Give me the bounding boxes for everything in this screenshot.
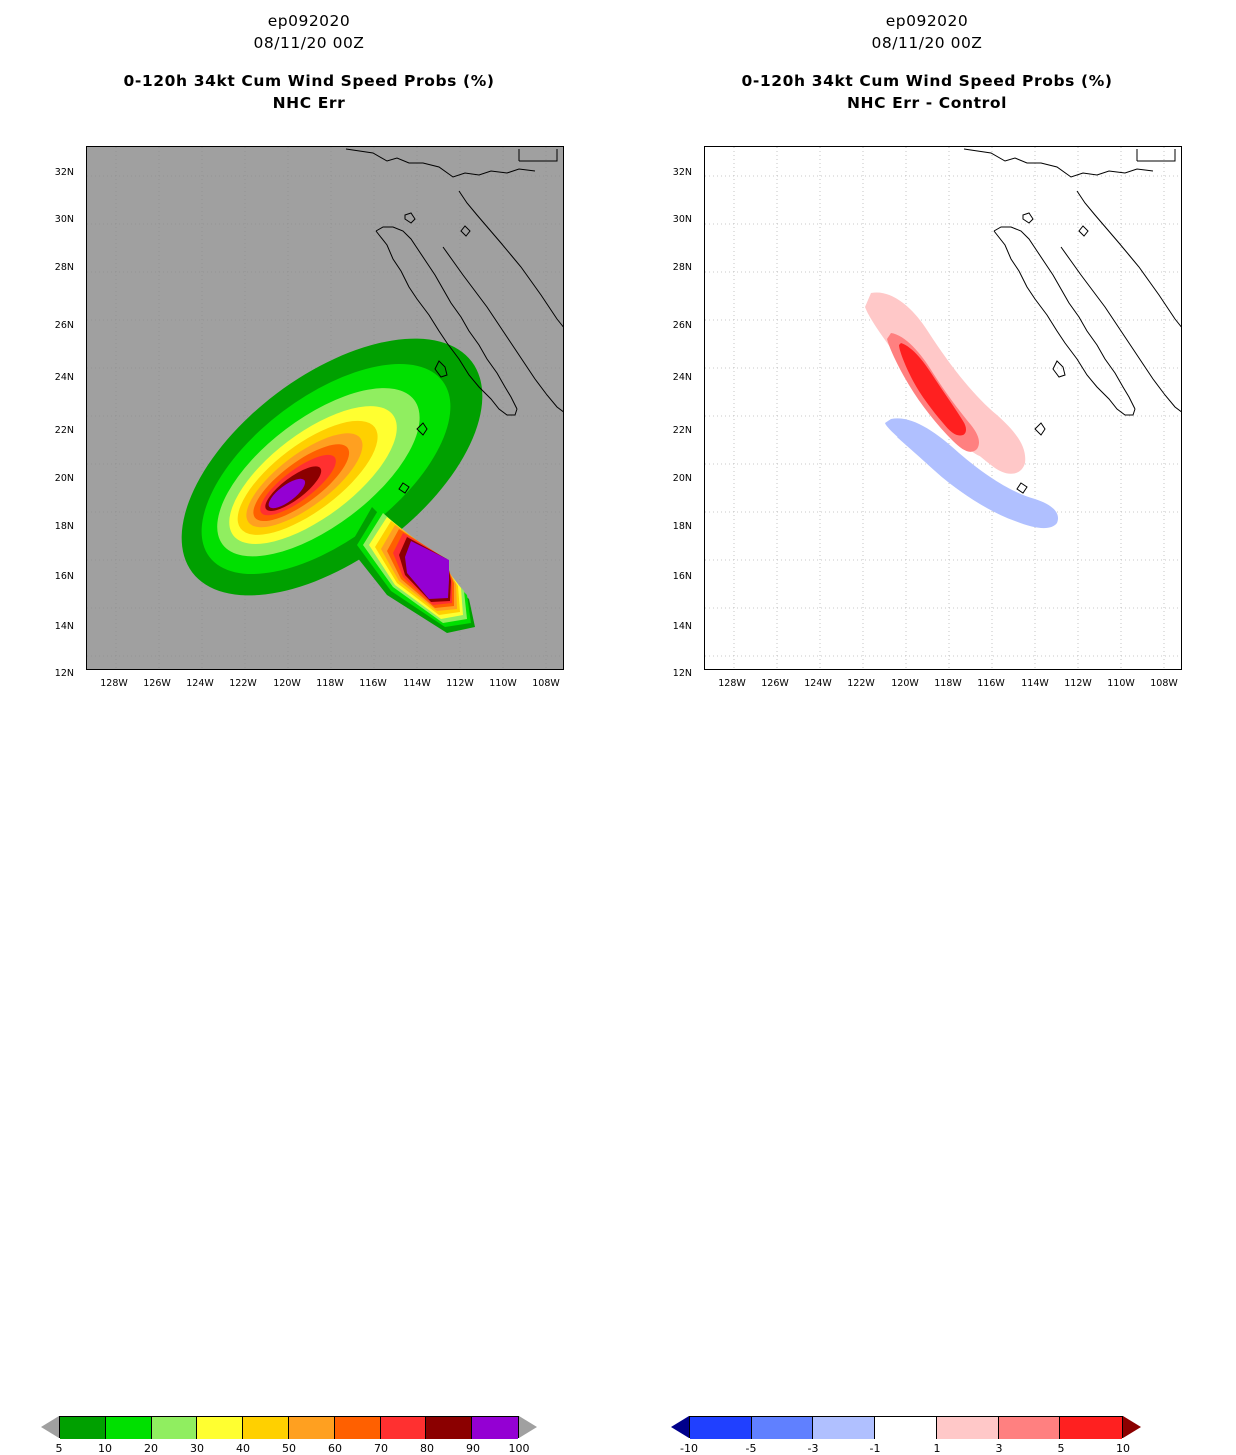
right-cbar-tick-3: 3 — [984, 1442, 1014, 1455]
left-cbar-seg-50-60 — [289, 1417, 335, 1439]
left-probability-contours — [137, 288, 527, 646]
right-map-area — [704, 146, 1182, 670]
left-map-svg — [87, 147, 564, 670]
left-xlabel-108W: 108W — [529, 678, 563, 689]
left-xlabel-114W: 114W — [400, 678, 434, 689]
left-title-block: ep092020 08/11/20 00Z 0-120h 34kt Cum Wi… — [0, 10, 618, 114]
left-cbar-seg-10-20 — [106, 1417, 152, 1439]
left-cbar-tick-30: 30 — [182, 1442, 212, 1455]
right-xlabel-128W: 128W — [715, 678, 749, 689]
left-xlabel-118W: 118W — [313, 678, 347, 689]
right-xlabel-108W: 108W — [1147, 678, 1181, 689]
right-ylabel-32N: 32N — [658, 167, 692, 178]
right-cbar-tick-5: 5 — [1046, 1442, 1076, 1455]
left-contour-tail — [349, 507, 475, 633]
left-xlabel-112W: 112W — [443, 678, 477, 689]
right-cbar-tick-m10: -10 — [674, 1442, 704, 1455]
right-colorbar: -10 -5 -3 -1 1 3 5 10 — [618, 704, 1236, 764]
right-cbar-tick-10: 10 — [1108, 1442, 1138, 1455]
left-cbar-tick-40: 40 — [228, 1442, 258, 1455]
left-cbar-tick-80: 80 — [412, 1442, 442, 1455]
right-cbar-seg-5-10 — [1060, 1417, 1122, 1439]
left-cbar-seg-20-30 — [152, 1417, 198, 1439]
right-ylabel-14N: 14N — [658, 621, 692, 632]
left-xlabel-110W: 110W — [486, 678, 520, 689]
panel-nhc-err-minus-control: ep092020 08/11/20 00Z 0-120h 34kt Cum Wi… — [618, 0, 1236, 800]
right-ylabel-12N: 12N — [658, 668, 692, 679]
left-ylabel-32N: 32N — [40, 167, 74, 178]
right-xlabel-110W: 110W — [1104, 678, 1138, 689]
right-ylabel-18N: 18N — [658, 521, 692, 532]
right-xlabel-124W: 124W — [801, 678, 835, 689]
right-xlabel-122W: 122W — [844, 678, 878, 689]
right-cbar-seg-m10-m5 — [690, 1417, 752, 1439]
left-cbar-seg-60-70 — [335, 1417, 381, 1439]
left-xlabel-120W: 120W — [270, 678, 304, 689]
right-xlabel-116W: 116W — [974, 678, 1008, 689]
right-cbar-over-arrow — [1123, 1416, 1141, 1438]
left-cbar-tick-70: 70 — [366, 1442, 396, 1455]
left-cbar-seg-70-80 — [381, 1417, 427, 1439]
left-ylabel-22N: 22N — [40, 425, 74, 436]
left-cbar-over-arrow — [519, 1416, 537, 1438]
left-xlabel-128W: 128W — [97, 678, 131, 689]
right-cbar-seg-m3-m1 — [813, 1417, 875, 1439]
left-cbar-tick-20: 20 — [136, 1442, 166, 1455]
left-cbar-tick-60: 60 — [320, 1442, 350, 1455]
right-ylabel-22N: 22N — [658, 425, 692, 436]
right-chart-subtitle: NHC Err - Control — [618, 92, 1236, 114]
right-xlabel-120W: 120W — [888, 678, 922, 689]
left-cbar-seg-80-90 — [426, 1417, 472, 1439]
right-storm-id: ep092020 — [618, 10, 1236, 32]
left-xlabel-124W: 124W — [183, 678, 217, 689]
right-cbar-tick-m3: -3 — [798, 1442, 828, 1455]
right-ylabel-30N: 30N — [658, 214, 692, 225]
right-title-block: ep092020 08/11/20 00Z 0-120h 34kt Cum Wi… — [618, 10, 1236, 114]
right-cbar-tick-m1: -1 — [860, 1442, 890, 1455]
left-cbar-tick-10: 10 — [90, 1442, 120, 1455]
left-cbar-under-arrow — [41, 1416, 59, 1438]
right-cbar-under-arrow — [671, 1416, 689, 1438]
left-ylabel-28N: 28N — [40, 262, 74, 273]
left-ylabel-30N: 30N — [40, 214, 74, 225]
right-cbar-seg-m5-m3 — [752, 1417, 814, 1439]
right-ylabel-26N: 26N — [658, 320, 692, 331]
left-ylabel-20N: 20N — [40, 473, 74, 484]
left-ylabel-16N: 16N — [40, 571, 74, 582]
left-chart-title: 0-120h 34kt Cum Wind Speed Probs (%) — [0, 70, 618, 92]
right-ylabel-24N: 24N — [658, 372, 692, 383]
right-ylabel-16N: 16N — [658, 571, 692, 582]
left-ylabel-24N: 24N — [40, 372, 74, 383]
left-ylabel-12N: 12N — [40, 668, 74, 679]
left-cbar-seg-90-100 — [472, 1417, 518, 1439]
left-ylabel-26N: 26N — [40, 320, 74, 331]
right-xlabel-112W: 112W — [1061, 678, 1095, 689]
right-cbar-tick-m5: -5 — [736, 1442, 766, 1455]
right-cbar-seg-m1-1 — [875, 1417, 937, 1439]
right-cbar-seg-3-5 — [999, 1417, 1061, 1439]
right-datetime: 08/11/20 00Z — [618, 32, 1236, 54]
right-ylabel-28N: 28N — [658, 262, 692, 273]
panel-nhc-err: ep092020 08/11/20 00Z 0-120h 34kt Cum Wi… — [0, 0, 618, 800]
left-cbar-tick-5: 5 — [44, 1442, 74, 1455]
left-colorbar: 5 10 20 30 40 50 60 70 80 90 100 — [0, 704, 618, 764]
left-xlabel-126W: 126W — [140, 678, 174, 689]
right-ylabel-20N: 20N — [658, 473, 692, 484]
left-chart-subtitle: NHC Err — [0, 92, 618, 114]
right-cbar-seg-1-3 — [937, 1417, 999, 1439]
right-xlabel-114W: 114W — [1018, 678, 1052, 689]
left-cbar-tick-90: 90 — [458, 1442, 488, 1455]
left-cbar-tick-100: 100 — [504, 1442, 534, 1455]
left-cbar-seg-5-10 — [60, 1417, 106, 1439]
right-xlabel-126W: 126W — [758, 678, 792, 689]
left-cbar-seg-30-40 — [197, 1417, 243, 1439]
left-xlabel-122W: 122W — [226, 678, 260, 689]
right-cbar-tick-1: 1 — [922, 1442, 952, 1455]
right-chart-title: 0-120h 34kt Cum Wind Speed Probs (%) — [618, 70, 1236, 92]
left-cbar-segments — [59, 1416, 519, 1438]
right-map-svg — [705, 147, 1182, 670]
left-ylabel-18N: 18N — [40, 521, 74, 532]
left-ylabel-14N: 14N — [40, 621, 74, 632]
left-xlabel-116W: 116W — [356, 678, 390, 689]
left-cbar-seg-40-50 — [243, 1417, 289, 1439]
left-cbar-tick-50: 50 — [274, 1442, 304, 1455]
left-map-area — [86, 146, 564, 670]
left-datetime: 08/11/20 00Z — [0, 32, 618, 54]
right-cbar-segments — [689, 1416, 1123, 1438]
left-storm-id: ep092020 — [0, 10, 618, 32]
right-xlabel-118W: 118W — [931, 678, 965, 689]
